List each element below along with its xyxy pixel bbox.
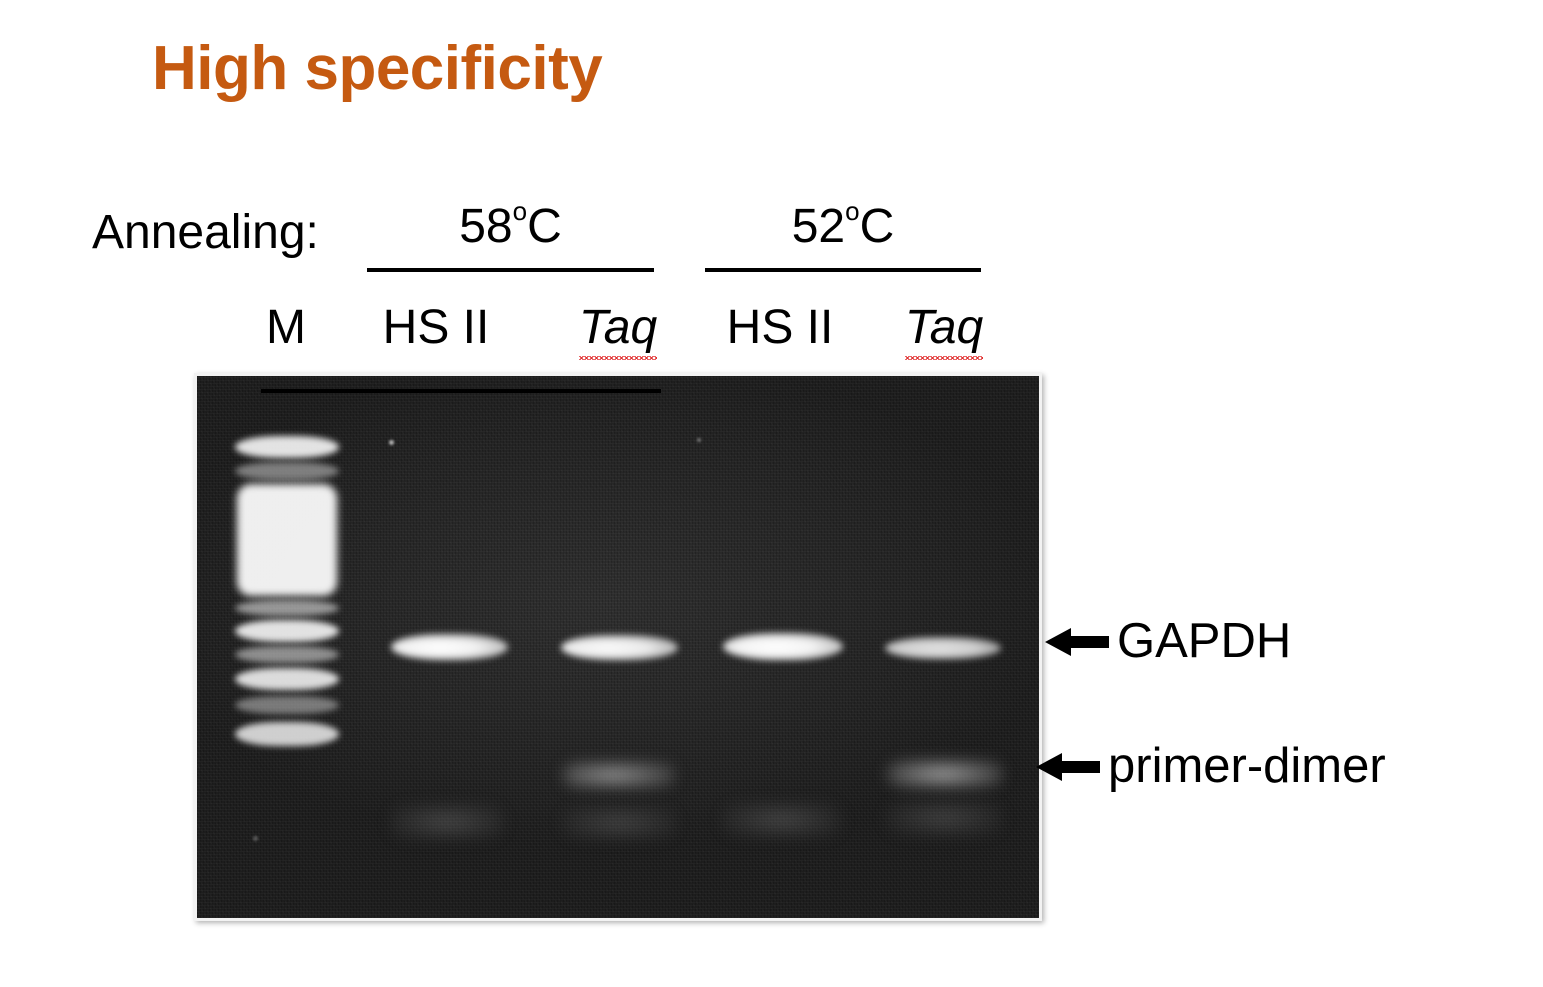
gel-electrophoresis-image xyxy=(194,373,1042,921)
dna-ladder-lane xyxy=(235,428,339,756)
gapdh-band-lane-taq-58 xyxy=(561,635,678,660)
lane-label-taq-52: Taq xyxy=(878,300,1010,358)
temperature-value-2: 52 xyxy=(792,200,845,253)
temperature-unit-1: C xyxy=(527,200,562,253)
annealing-temperature-1: 58oC xyxy=(367,198,654,251)
gel-artifact-speck xyxy=(389,440,394,445)
degree-symbol-2: o xyxy=(845,196,859,226)
primer-dimer-band-lane-taq-58 xyxy=(563,761,675,789)
annealing-underline-1 xyxy=(367,268,654,272)
callout-primer-dimer-label: primer-dimer xyxy=(1108,742,1386,791)
ladder-band xyxy=(235,696,339,714)
lane-label-hs2-52: HS II xyxy=(700,300,860,355)
lane-label-taq-52-text: Taq xyxy=(905,300,983,358)
callout-gapdh-label: GAPDH xyxy=(1117,617,1291,666)
annealing-temperature-2: 52oC xyxy=(705,198,981,251)
callout-primer-dimer: primer-dimer xyxy=(1036,742,1386,791)
lane-label-taq-58-text: Taq xyxy=(579,300,657,358)
arrow-left-icon xyxy=(1045,625,1109,659)
ladder-band xyxy=(235,646,339,663)
ladder-band xyxy=(235,620,339,642)
low-mw-smear-lane-2 xyxy=(561,806,677,840)
annealing-condition-2: 52oC xyxy=(705,198,981,272)
annealing-underline-2 xyxy=(705,268,981,272)
temperature-unit-2: C xyxy=(860,200,895,253)
lane-label-hs2-52-text: HS II xyxy=(727,301,834,354)
temperature-value-1: 58 xyxy=(459,200,512,253)
arrow-left-icon xyxy=(1036,750,1100,784)
ladder-band xyxy=(235,668,339,690)
ladder-band xyxy=(235,722,339,746)
callout-gapdh: GAPDH xyxy=(1045,617,1291,666)
lane-label-hs2-58-text: HS II xyxy=(383,301,490,354)
annealing-condition-1: 58oC xyxy=(367,198,654,272)
ladder-band xyxy=(235,600,339,616)
low-mw-smear-lane-4 xyxy=(885,800,1003,836)
gapdh-band-lane-taq-52 xyxy=(885,637,1001,659)
primer-dimer-band-lane-taq-52 xyxy=(887,759,1003,789)
low-mw-smear-lane-1 xyxy=(389,804,505,840)
low-mw-smear-lane-3 xyxy=(721,802,843,838)
lane-label-taq-58: Taq xyxy=(552,300,684,358)
gel-reference-line xyxy=(261,389,661,393)
gel-artifact-speck xyxy=(253,836,258,841)
page-title: High specificity xyxy=(152,33,602,104)
gel-canvas xyxy=(197,376,1039,918)
degree-symbol-1: o xyxy=(513,196,527,226)
lane-label-marker: M xyxy=(238,300,334,355)
annealing-label: Annealing: xyxy=(92,205,319,260)
lane-label-marker-text: M xyxy=(266,301,306,354)
gapdh-band-lane-hs2-52 xyxy=(723,633,843,660)
lane-label-hs2-58: HS II xyxy=(356,300,516,355)
gapdh-band-lane-hs2-58 xyxy=(391,634,508,660)
ladder-saturated-blob xyxy=(237,484,337,596)
gel-artifact-speck xyxy=(697,438,701,442)
ladder-band xyxy=(235,436,339,458)
ladder-band xyxy=(235,462,339,480)
